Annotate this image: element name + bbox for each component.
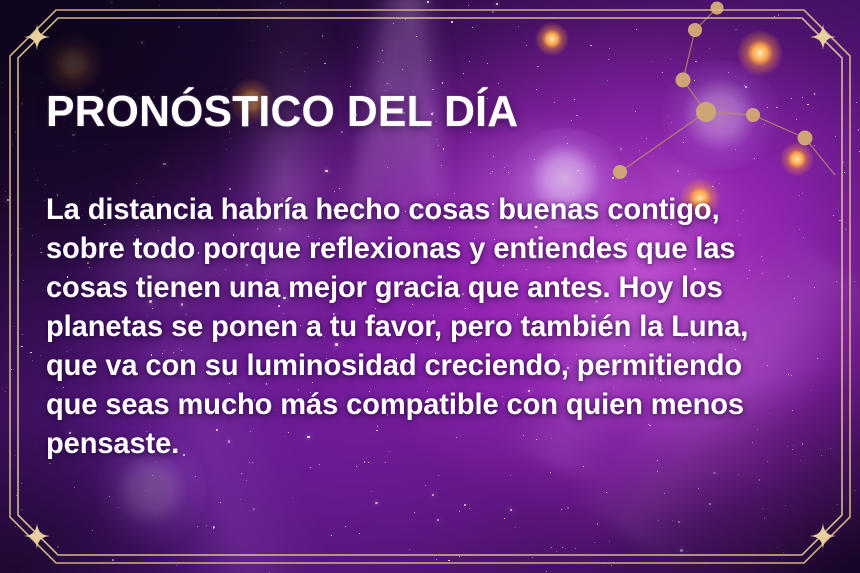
card-content: PRONÓSTICO DEL DÍA La distancia habría h… <box>46 86 818 463</box>
forecast-text: La distancia habría hecho cosas buenas c… <box>46 138 797 463</box>
daily-horoscope-card: PRONÓSTICO DEL DÍA La distancia habría h… <box>0 0 860 573</box>
page-title: PRONÓSTICO DEL DÍA <box>46 86 795 138</box>
